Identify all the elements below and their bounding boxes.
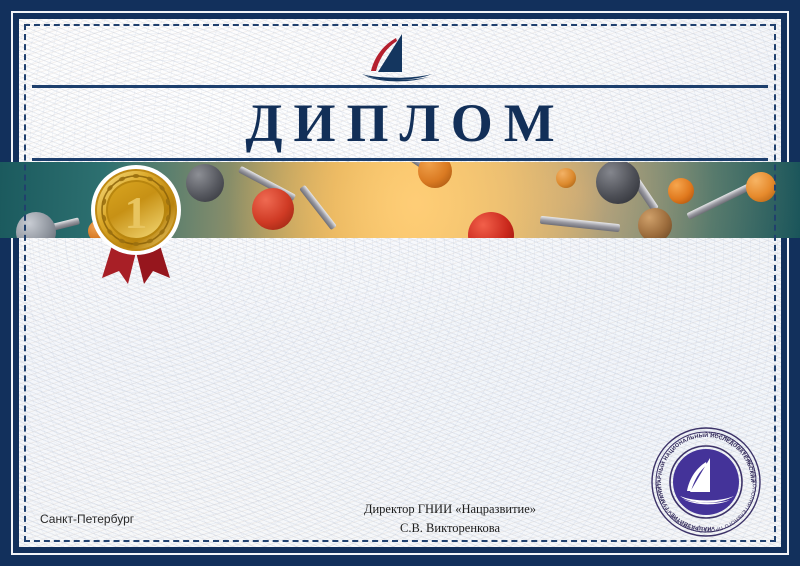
molecule-atom (418, 162, 452, 188)
molecule-atom (596, 162, 640, 204)
sailboat-logo-icon (352, 32, 448, 84)
signatory-title: Директор ГНИИ «Нацразвитие» (300, 500, 600, 519)
signature-block: Директор ГНИИ «Нацразвитие» С.В. Викторе… (300, 500, 600, 539)
molecule-atom (556, 168, 576, 188)
signatory-name: С.В. Викторенкова (300, 519, 600, 538)
official-round-seal-icon: ЧАСТНОЕ УЧРЕЖДЕНИЕ ДОПОЛНИТЕЛЬНОГО ПРОФЕ… (650, 426, 762, 538)
page-title: ДИПЛОМ (0, 96, 800, 150)
molecule-atom (668, 178, 694, 204)
molecule-bond (299, 185, 337, 230)
molecule-bond (540, 216, 620, 232)
header-logo (0, 32, 800, 84)
molecule-atom (468, 212, 514, 238)
molecule-atom (252, 188, 294, 230)
city-label: Санкт-Петербург (40, 512, 134, 526)
molecule-atom (638, 208, 672, 238)
molecule-atom (16, 212, 56, 238)
molecule-atom (186, 164, 224, 202)
gold-medal-first-place-icon: 1 (88, 158, 184, 290)
diploma-certificate: ДИПЛОМ (0, 0, 800, 566)
rule-above-title (32, 85, 768, 88)
medal-place-number: 1 (125, 187, 148, 238)
molecule-atom (746, 172, 776, 202)
